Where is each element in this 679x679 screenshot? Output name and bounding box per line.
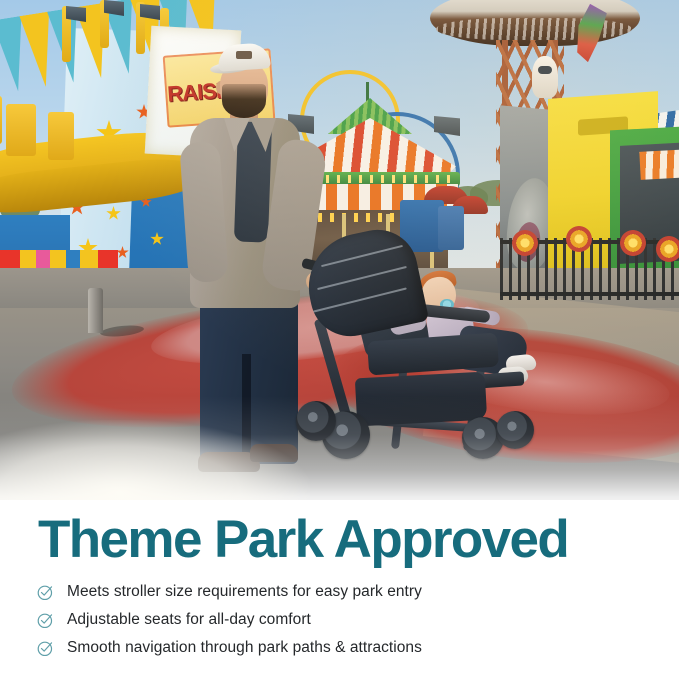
list-item: Smooth navigation through park paths & a…: [36, 634, 656, 662]
check-circle-icon: [36, 639, 55, 658]
fence-light: [566, 226, 592, 252]
stroller-front-wheel: [496, 411, 534, 449]
man-shoe: [250, 444, 298, 462]
check-circle-icon: [36, 583, 55, 602]
check-circle-icon: [36, 611, 55, 630]
ride-mascot-eye: [538, 66, 552, 74]
fence-light: [656, 236, 679, 262]
ride-mascot: [532, 56, 558, 98]
feature-label: Meets stroller size requirements for eas…: [67, 584, 422, 600]
product-feature-card: RAISER: [0, 0, 679, 679]
bollard: [88, 288, 103, 333]
stroller-rear-wheel: [296, 401, 336, 441]
feature-list: Meets stroller size requirements for eas…: [36, 578, 656, 662]
fence-light: [620, 230, 646, 256]
cap-logo: [236, 51, 252, 59]
swing-ride-seat: [0, 96, 2, 144]
swing-ride-seat: [6, 104, 36, 156]
list-item: Adjustable seats for all-day comfort: [36, 606, 656, 634]
swing-ride-seat: [48, 112, 74, 160]
stroller: [300, 225, 550, 460]
man-beard: [222, 84, 266, 118]
feature-label: Adjustable seats for all-day comfort: [67, 612, 311, 628]
orange-striped-awning: [639, 148, 679, 180]
feature-label: Smooth navigation through park paths & a…: [67, 640, 422, 656]
hero-photo: RAISER: [0, 0, 679, 500]
stroller-storage-basket: [355, 372, 487, 427]
list-item: Meets stroller size requirements for eas…: [36, 578, 656, 606]
carousel-flag: [434, 116, 460, 136]
page-title: Theme Park Approved: [38, 512, 658, 568]
